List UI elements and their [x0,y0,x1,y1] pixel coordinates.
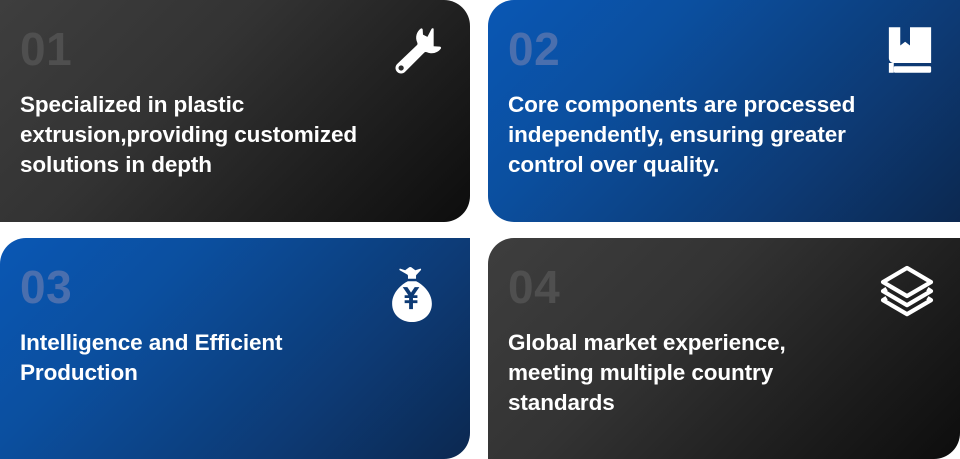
card-title: Core components are processed independen… [508,90,930,180]
feature-card-grid: 01 Specialized in plastic extrusion,prov… [0,0,960,459]
feature-card-01[interactable]: 01 Specialized in plastic extrusion,prov… [0,0,470,222]
feature-card-03[interactable]: 03 Intelligence and Efficient Production [0,238,470,459]
feature-card-04[interactable]: 04 Global market experience, meeting mul… [488,238,960,459]
card-number: 01 [20,26,440,72]
card-title: Specialized in plastic extrusion,providi… [20,90,440,180]
feature-card-02[interactable]: 02 Core components are processed indepen… [488,0,960,222]
card-number: 02 [508,26,930,72]
card-number: 03 [20,264,440,310]
card-number: 04 [508,264,930,310]
card-title: Global market experience, meeting multip… [508,328,930,418]
card-title: Intelligence and Efficient Production [20,328,440,388]
